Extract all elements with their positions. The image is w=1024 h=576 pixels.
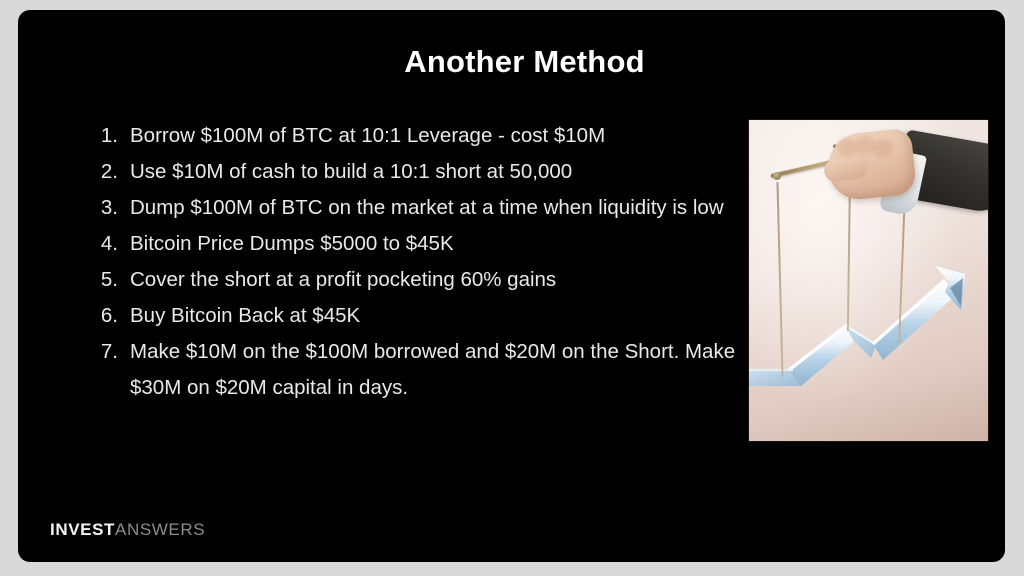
knuckle xyxy=(855,136,875,154)
list-item-number: 2. xyxy=(88,154,118,190)
list-item-number: 5. xyxy=(88,262,118,298)
list-item-number: 6. xyxy=(88,298,118,334)
screenshot-frame: Another Method 1. Borrow $100M of BTC at… xyxy=(0,0,1024,576)
list-item: 3. Dump $100M of BTC on the market at a … xyxy=(88,190,748,226)
list-item-text: Bitcoin Price Dumps $5000 to $45K xyxy=(130,226,748,262)
list-item-text: Dump $100M of BTC on the market at a tim… xyxy=(130,190,748,226)
list-item: 6. Buy Bitcoin Back at $45K xyxy=(88,298,748,334)
numbered-steps-list: 1. Borrow $100M of BTC at 10:1 Leverage … xyxy=(88,118,748,406)
list-item-number: 7. xyxy=(88,334,118,370)
list-item: 5. Cover the short at a profit pocketing… xyxy=(88,262,748,298)
marionette-hand-chart-image xyxy=(749,120,988,441)
presentation-slide: Another Method 1. Borrow $100M of BTC at… xyxy=(18,10,1005,562)
list-item: 4. Bitcoin Price Dumps $5000 to $45K xyxy=(88,226,748,262)
knuckle xyxy=(837,138,857,156)
list-item-number: 3. xyxy=(88,190,118,226)
list-item-text: Make $10M on the $100M borrowed and $20M… xyxy=(130,334,748,406)
list-item-text: Cover the short at a profit pocketing 60… xyxy=(130,262,748,298)
list-item-text: Borrow $100M of BTC at 10:1 Leverage - c… xyxy=(130,118,748,154)
list-item-text: Buy Bitcoin Back at $45K xyxy=(130,298,748,334)
list-item-text: Use $10M of cash to build a 10:1 short a… xyxy=(130,154,748,190)
logo-invest: INVEST xyxy=(50,520,115,539)
knuckle xyxy=(873,139,893,157)
steps-content: 1. Borrow $100M of BTC at 10:1 Leverage … xyxy=(88,118,748,406)
list-item: 2. Use $10M of cash to build a 10:1 shor… xyxy=(88,154,748,190)
list-item: 7. Make $10M on the $100M borrowed and $… xyxy=(88,334,748,406)
list-item-number: 1. xyxy=(88,118,118,154)
list-item-number: 4. xyxy=(88,226,118,262)
logo-answers: ANSWERS xyxy=(115,520,205,539)
list-item: 1. Borrow $100M of BTC at 10:1 Leverage … xyxy=(88,118,748,154)
control-bar-knob xyxy=(773,172,781,180)
brand-logo: INVESTANSWERS xyxy=(50,520,205,540)
page-title: Another Method xyxy=(18,44,1005,80)
